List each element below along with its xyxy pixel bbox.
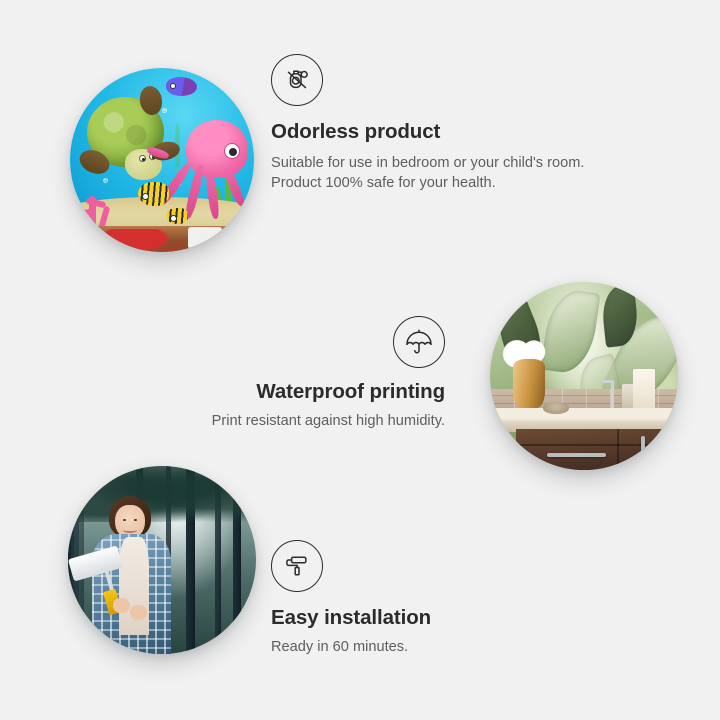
feature-waterproof: Waterproof printing Print resistant agai… xyxy=(120,316,445,431)
woman-with-paint-roller-forest-wallpaper-photo[interactable] xyxy=(68,466,256,654)
vanity-cabinet xyxy=(516,429,678,470)
installer-artwork xyxy=(68,466,256,654)
feature-description: Ready in 60 minutes. xyxy=(271,637,571,658)
striped-fish-small xyxy=(166,208,188,225)
underwater-cartoon-wallpaper-photo[interactable] xyxy=(70,68,254,252)
feature-title: Waterproof printing xyxy=(120,380,445,405)
vase xyxy=(513,359,545,408)
paint-roller-icon xyxy=(271,540,323,592)
bathroom-artwork xyxy=(490,282,678,470)
soap-dish xyxy=(543,402,569,413)
feature-odorless: Odorless product Suitable for use in bed… xyxy=(271,54,611,194)
feature-description: Print resistant against high humidity. xyxy=(120,411,445,432)
umbrella-icon xyxy=(393,316,445,368)
coral xyxy=(70,171,133,234)
towel xyxy=(633,369,656,414)
bathroom-tropical-wallpaper-photo[interactable] xyxy=(490,282,678,470)
feature-highlights-panel: Odorless product Suitable for use in bed… xyxy=(0,0,720,720)
faucet xyxy=(611,380,614,408)
feature-install: Easy installation Ready in 60 minutes. xyxy=(271,540,571,657)
feature-title: Easy installation xyxy=(271,606,571,631)
feature-description: Suitable for use in bedroom or your chil… xyxy=(271,153,611,194)
ocean-artwork xyxy=(70,68,254,252)
no-odor-spray-bottle-icon xyxy=(271,54,323,106)
feature-title: Odorless product xyxy=(271,120,611,145)
purple-fish xyxy=(166,77,197,95)
striped-fish-large xyxy=(138,182,169,206)
